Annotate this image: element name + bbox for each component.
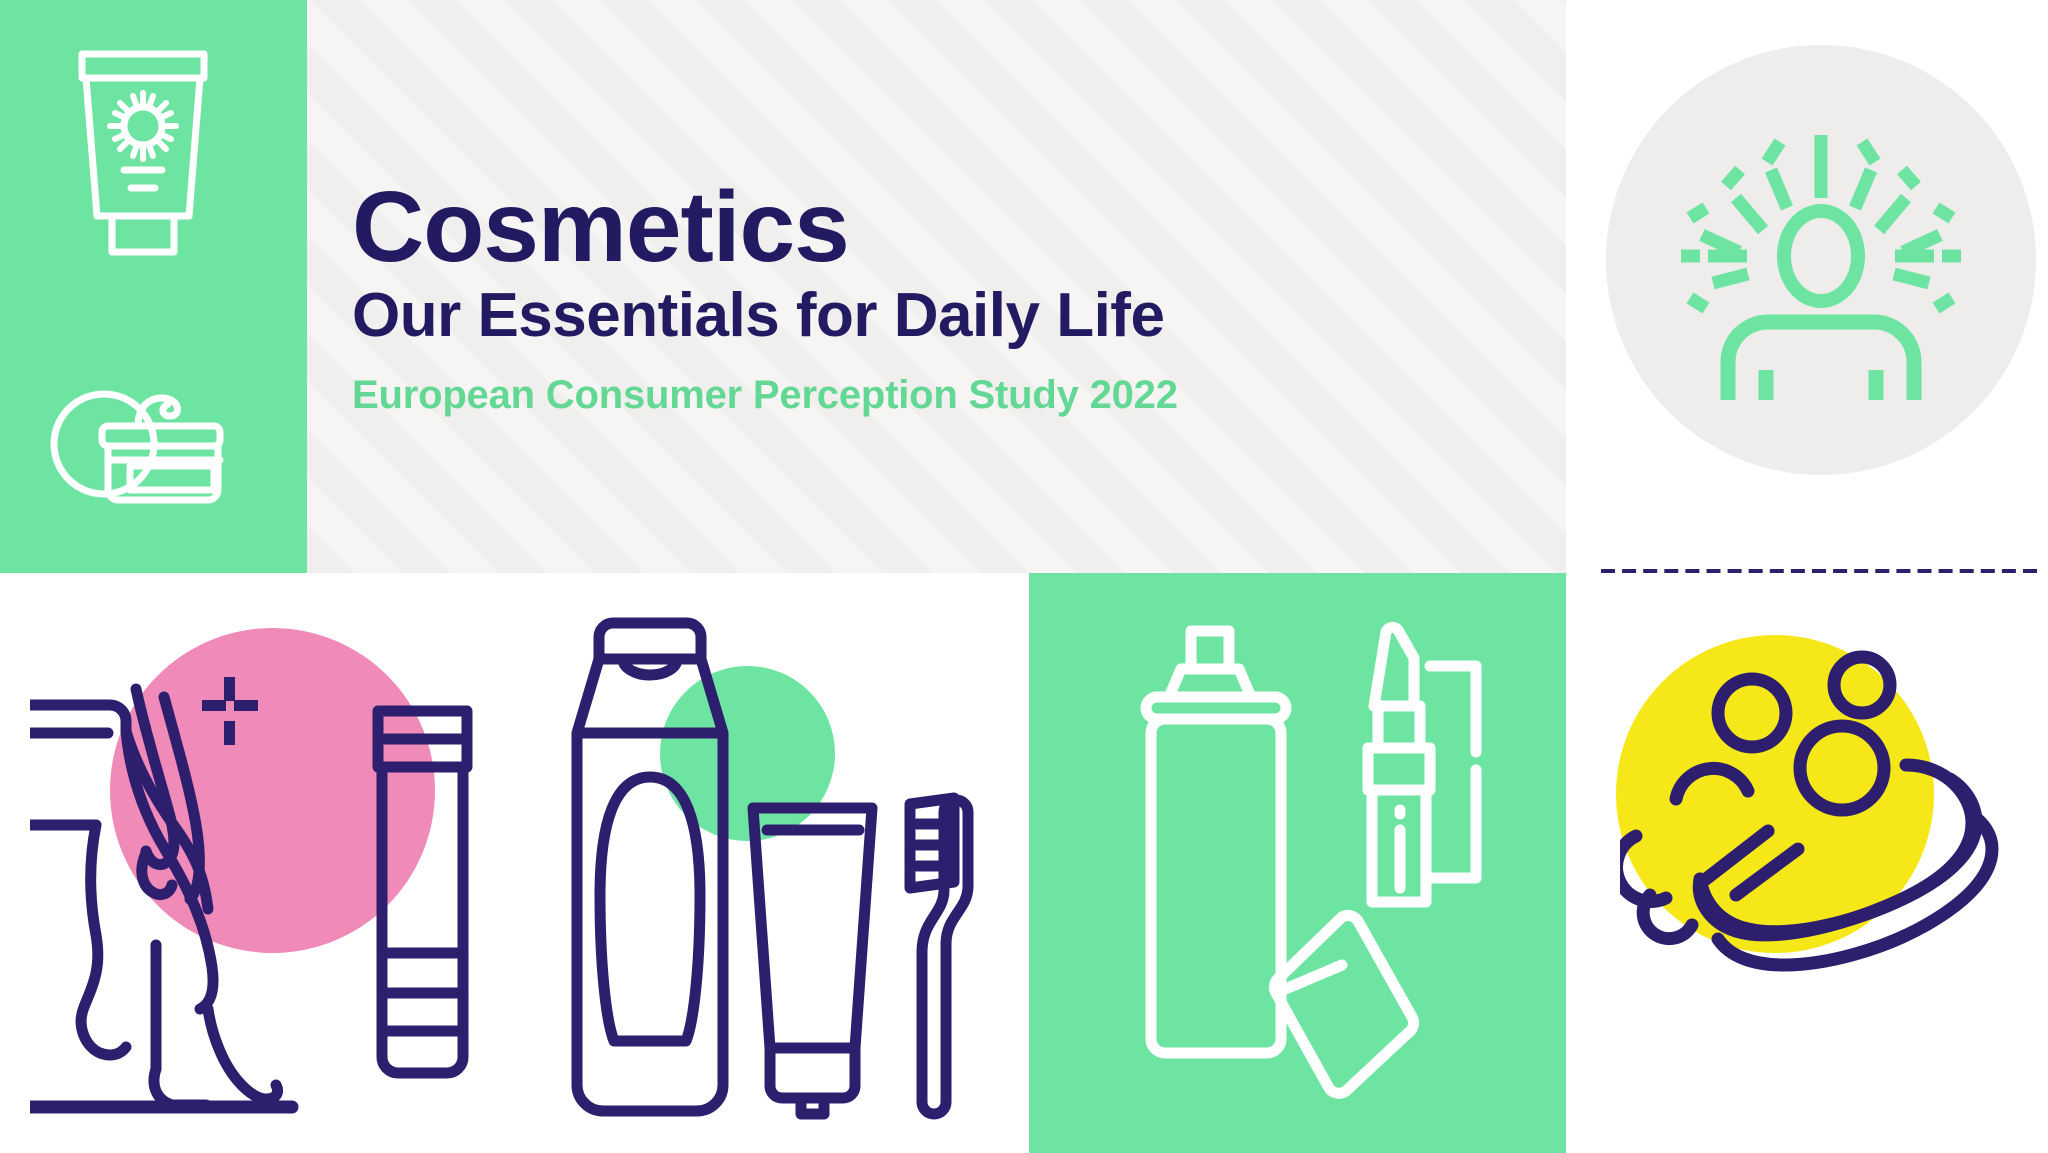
cream-jar-icon	[42, 368, 252, 508]
bottom-right-soap-panel	[1566, 573, 2048, 1153]
soap-bar-with-bubbles-icon	[1620, 633, 2030, 973]
header-band: Cosmetics Our Essentials for Daily Life …	[0, 0, 1566, 573]
study-line: European Consumer Perception Study 2022	[352, 371, 1452, 419]
toothbrush-icon	[900, 788, 975, 1128]
poster-canvas: Cosmetics Our Essentials for Daily Life …	[0, 0, 2048, 1153]
sparkle-icon	[202, 677, 258, 745]
header-icon-tile	[0, 0, 307, 573]
toothpaste-tube-icon	[745, 798, 880, 1123]
header-text-block: Cosmetics Our Essentials for Daily Life …	[352, 178, 1452, 419]
bottom-left-products-panel	[0, 573, 1029, 1153]
lipstick-icon	[1344, 618, 1489, 923]
person-with-rays-icon	[1640, 80, 2002, 442]
sunscreen-tube-icon	[68, 48, 218, 258]
legs-body-lotion-icon	[30, 573, 310, 1153]
shampoo-bottle-icon	[555, 613, 745, 1133]
lotion-tube-icon	[370, 703, 475, 1133]
page-title: Cosmetics	[352, 178, 1452, 276]
soap-bar-icon	[1264, 903, 1429, 1103]
page-subtitle: Our Essentials for Daily Life	[352, 280, 1452, 351]
bottom-green-products-panel	[1029, 573, 1566, 1153]
